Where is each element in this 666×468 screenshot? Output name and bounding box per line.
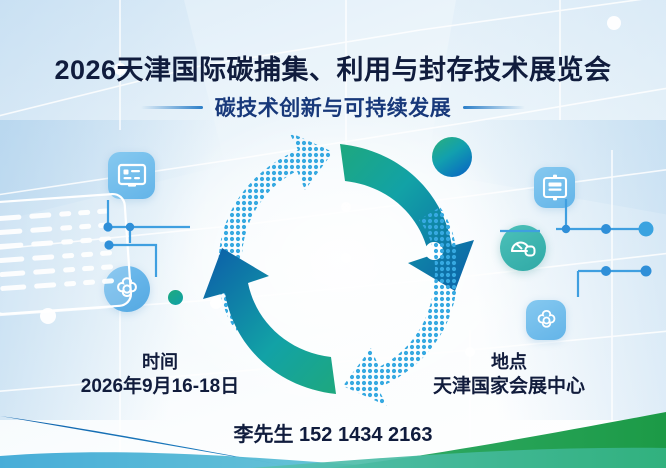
subtitle-row: 碳技术创新与可持续发展 — [0, 92, 666, 122]
contact-info: 李先生 152 1434 2163 — [0, 418, 666, 447]
info-time: 时间 2026年9月16-18日 — [60, 350, 260, 400]
header: 2026天津国际碳捕集、利用与封存技术展览会 碳技术创新与可持续发展 — [0, 0, 666, 140]
circuit-left — [78, 185, 198, 305]
page-title: 2026天津国际碳捕集、利用与封存技术展览会 — [0, 48, 666, 87]
info-place-label: 地点 — [404, 350, 614, 374]
info-time-label: 时间 — [60, 350, 260, 374]
info-place-value: 天津国家会展中心 — [404, 374, 614, 400]
info-block: 时间 2026年9月16-18日 地点 天津国家会展中心 — [0, 350, 666, 420]
info-place: 地点 天津国家会展中心 — [404, 350, 614, 400]
page-subtitle: 碳技术创新与可持续发展 — [215, 92, 452, 122]
subtitle-rule-right — [463, 106, 525, 109]
info-time-value: 2026年9月16-18日 — [60, 374, 260, 400]
gradient-sphere — [432, 137, 472, 177]
subtitle-rule-left — [141, 106, 203, 109]
exhibition-banner: 2026天津国际碳捕集、利用与封存技术展览会 碳技术创新与可持续发展 时间 20… — [0, 0, 666, 468]
circuit-right — [500, 185, 666, 325]
